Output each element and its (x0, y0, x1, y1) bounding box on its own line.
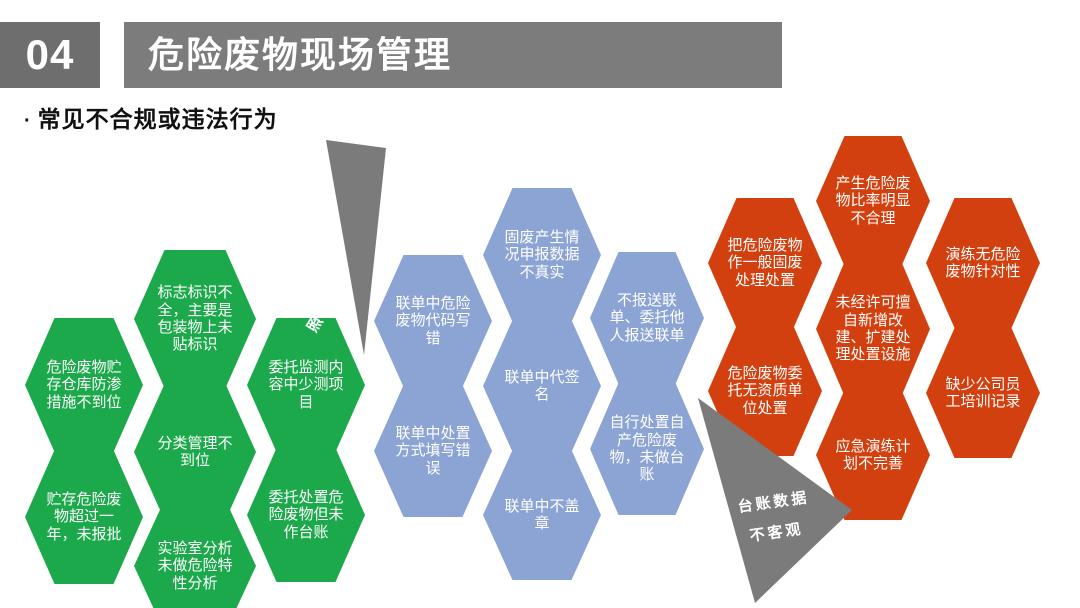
hex-label: 实验室分析未做危险特性分析 (151, 540, 239, 592)
hex-label: 贮存危险废物超过一年，未报批 (42, 491, 127, 543)
hex-label: 固废产生情况申报数据不真实 (500, 229, 585, 281)
hex-red-3[interactable]: 未经许可擅自新增改建、扩建处理处置设施 (816, 262, 930, 396)
hex-green-5[interactable]: 实验室分析未做危险特性分析 (134, 500, 256, 608)
hex-label: 委托监测内容中少测项目 (264, 359, 349, 411)
hex-green-4[interactable]: 贮存危险废物超过一年，未报批 (25, 450, 143, 584)
hex-label: 缺少公司员工培训记录 (942, 376, 1024, 411)
hex-red-2[interactable]: 演练无危险废物针对性 (926, 198, 1040, 328)
hex-label: 联单中处置方式填写错误 (391, 425, 476, 477)
hex-label: 产生危险废物比率明显不合理 (832, 175, 914, 227)
hex-blue-2[interactable]: 不报送联单、委托他人报送联单 (590, 252, 704, 384)
hex-blue-4[interactable]: 联单中处置方式填写错误 (374, 385, 492, 517)
hex-label: 未经许可擅自新增改建、扩建处理处置设施 (832, 294, 914, 364)
slide-root: 04 危险废物现场管理 ·常见不合规或违法行为 危险废物贮存仓库防渗措施不到位 … (0, 0, 1080, 608)
hex-blue-3[interactable]: 联单中代签名 (483, 320, 601, 452)
hex-label: 不报送联单、委托他人报送联单 (606, 292, 688, 344)
hexagon-diagram: 危险废物贮存仓库防渗措施不到位 标志标识不全，主要是包装物上未贴标识 分类管理不… (0, 0, 1080, 608)
hex-label: 分类管理不到位 (151, 435, 239, 470)
hex-green-2[interactable]: 分类管理不到位 (134, 384, 256, 520)
hex-label: 联单中不盖章 (500, 498, 585, 533)
hex-red-1[interactable]: 把危险废物作一般固废处理处置 (708, 198, 822, 328)
hex-label: 危险废物贮存仓库防渗措施不到位 (42, 359, 127, 411)
hex-blue-6[interactable]: 联单中不盖章 (483, 450, 601, 580)
hex-blue-1[interactable]: 固废产生情况申报数据不真实 (483, 188, 601, 322)
hex-red-5[interactable]: 缺少公司员工培训记录 (926, 328, 1040, 458)
hex-label: 演练无危险废物针对性 (942, 246, 1024, 281)
hex-label: 把危险废物作一般固废处理处置 (724, 237, 806, 289)
hex-label: 联单中代签名 (500, 369, 585, 404)
callout-ledger-data: 台账数据 不客观 (620, 398, 880, 608)
hex-label: 委托处置危险废物但未作台账 (264, 489, 349, 541)
hex-red-0[interactable]: 产生危险废物比率明显不合理 (816, 136, 930, 266)
hex-green-6[interactable]: 委托处置危险废物但未作台账 (247, 448, 365, 582)
callout-emergency-drill: 应急演练记 录不全， 无演练 照片 (196, 140, 396, 360)
hex-green-0[interactable]: 危险废物贮存仓库防渗措施不到位 (25, 318, 143, 452)
hex-label: 联单中危险废物代码写错 (391, 295, 476, 347)
